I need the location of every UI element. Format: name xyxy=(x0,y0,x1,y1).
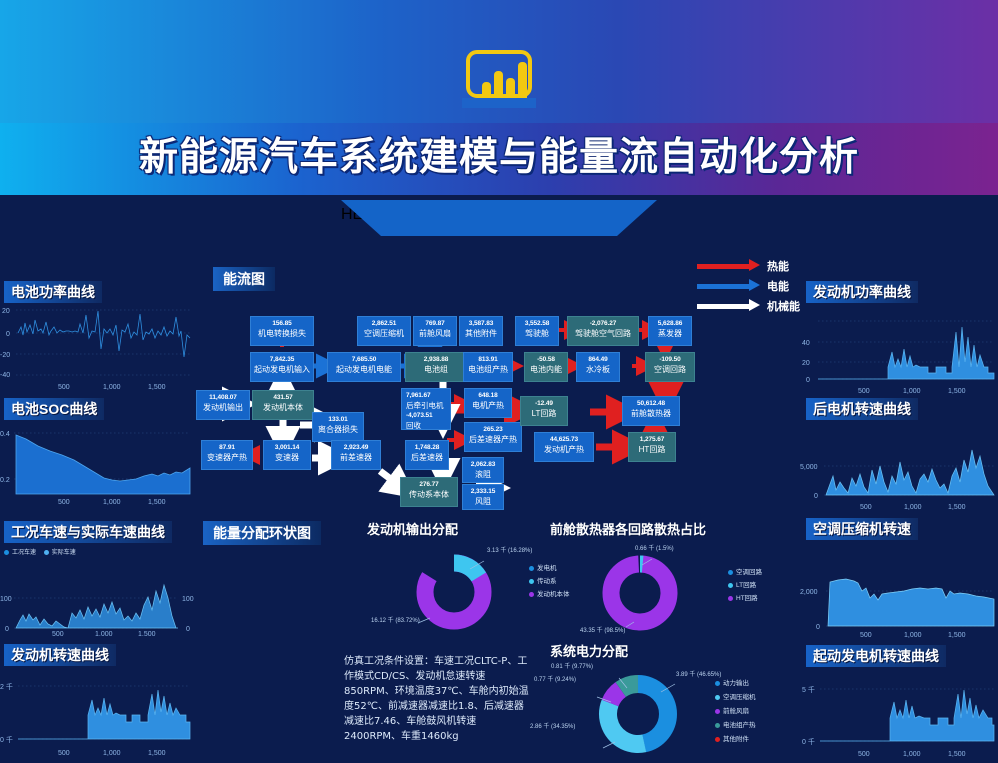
flow-node-n07[interactable]: 3,587.83 其他附件 xyxy=(459,316,503,346)
legend-item: 其他附件 xyxy=(715,733,756,747)
legend-item: 空调压缩机 xyxy=(715,691,756,705)
chart-engine-speed: 2 千 0 千 500 1,000 1,500 xyxy=(0,672,195,760)
page-title: 新能源汽车系统建模与能量流自动化分析 xyxy=(0,127,998,189)
panel-title-speed-curve: 工况车速与实际车速曲线 xyxy=(4,521,172,543)
ytick: 5 千 xyxy=(802,685,815,694)
legend-item: 电池组产热 xyxy=(715,719,756,733)
donut-title-engine-output: 发动机输出分配 xyxy=(360,519,465,541)
donut-title-radiator: 前舱散热器各回路散热占比 xyxy=(543,519,713,541)
chart-engine-power: 40 20 0 500 1,000 1,500 xyxy=(800,307,998,395)
xtick: 1,000 xyxy=(103,750,121,757)
donut-radiator xyxy=(590,553,690,633)
donut2-legend: 空调回路 LT回路 HT回路 xyxy=(728,566,762,605)
chart-starter-generator-speed: 5 千 0 千 500 1,000 1,500 xyxy=(800,672,998,760)
donut3-legend: 动力输出 空调压缩机 前舱风扇 电池组产热 其他附件 xyxy=(715,677,756,747)
chart-battery-power: 20 0 -20 -40 500 1,000 1,500 xyxy=(0,305,195,395)
panel-title-engine-speed: 发动机转速曲线 xyxy=(4,644,116,666)
ytick: 0 千 xyxy=(0,735,13,744)
donut3-label-1: 2.86 千 (34.35%) xyxy=(530,721,575,730)
flow-node-n14[interactable]: 5,628.86 蒸发器 xyxy=(648,316,692,346)
ytick-right: 0 xyxy=(186,626,190,633)
xtick: 1,500 xyxy=(948,751,966,758)
donut-engine-output xyxy=(404,553,504,631)
ytick: 0 xyxy=(814,493,818,500)
flow-node-n29[interactable]: 50,612.48 前舱散热器 xyxy=(622,396,680,426)
flow-node-n12[interactable]: 3,552.58 驾驶舱 xyxy=(515,316,559,346)
xtick: 500 xyxy=(860,504,872,511)
ytick: 20 xyxy=(802,360,810,367)
flow-node-n09[interactable]: -50.58 电池内能 xyxy=(524,352,568,382)
legend-item: 传动系 xyxy=(529,575,570,588)
ytick: 2 千 xyxy=(0,682,13,691)
flow-node-n06[interactable]: 769.87 前舱风扇 xyxy=(413,316,457,346)
xtick: 1,500 xyxy=(948,504,966,511)
xtick: 500 xyxy=(58,750,70,757)
xtick: 1,000 xyxy=(904,632,922,638)
chart-battery-soc: 0.4 0.2 500 1,000 1,500 xyxy=(0,422,195,510)
flow-node-n31[interactable]: 1,275.67 HT回路 xyxy=(628,432,676,462)
flow-node-n19[interactable]: 3,001.14 变速器 xyxy=(263,440,311,470)
ytick: -20 xyxy=(0,352,10,359)
donut-power-distribution xyxy=(583,670,693,760)
donut-section-chip: 能量分配环状图 xyxy=(203,521,321,545)
xtick: 1,000 xyxy=(103,384,121,391)
flow-node-n08[interactable]: 813.91 电池组产热 xyxy=(463,352,513,382)
ytick: 2,000 xyxy=(800,589,818,596)
ytick: 5,000 xyxy=(800,464,818,471)
ytick: 20 xyxy=(2,308,10,315)
legend-label: 电能 xyxy=(767,278,789,296)
xtick: 500 xyxy=(860,632,872,638)
panel-title-rear-motor-speed: 后电机转速曲线 xyxy=(806,398,918,420)
ytick: 0 千 xyxy=(802,737,815,746)
ytick: 0 xyxy=(6,331,10,338)
flow-node-n21[interactable]: 7,961.67 后牵引电机 -4,073.51 回收 xyxy=(401,388,451,430)
xtick: 500 xyxy=(858,751,870,758)
panel-title-engine-power: 发动机功率曲线 xyxy=(806,281,918,303)
donut1-legend: 发电机 传动系 发动机本体 xyxy=(529,562,570,601)
flow-node-n11[interactable]: -109.50 空调回路 xyxy=(645,352,695,382)
legend-row-thermal: 热能 xyxy=(697,258,817,278)
ytick: 0 xyxy=(806,377,810,384)
flow-node-n24[interactable]: 265.23 后差速器产热 xyxy=(464,422,522,452)
flow-node-n02[interactable]: 7,842.35 起动发电机输入 xyxy=(250,352,314,382)
panel-title-battery-soc: 电池SOC曲线 xyxy=(4,398,104,420)
flow-node-n30[interactable]: 44,625.73 发动机产热 xyxy=(534,432,594,462)
flow-node-n17[interactable]: 133.01 离合器损失 xyxy=(312,412,364,442)
legend-label: 热能 xyxy=(767,258,789,276)
ytick-right: 100 xyxy=(182,596,194,603)
legend-item: 空调回路 xyxy=(728,566,762,579)
legend-item: 前舱风扇 xyxy=(715,705,756,719)
section-ribbon: HEV能量分析 xyxy=(341,200,657,236)
xtick: 1,500 xyxy=(148,499,166,506)
chart-rear-motor-speed: 5,000 0 500 1,000 1,500 xyxy=(800,424,998,512)
ytick: 0.4 xyxy=(0,431,10,438)
flow-node-n28[interactable]: -12.49 LT回路 xyxy=(520,396,568,426)
flow-node-n26[interactable]: 2,062.83 滚阻 xyxy=(462,457,504,483)
legend-item: 工况车速 xyxy=(4,550,36,556)
flow-node-n01[interactable]: 156.85 机电转换损失 xyxy=(250,316,314,346)
legend-item: 动力输出 xyxy=(715,677,756,691)
legend-item: LT回路 xyxy=(728,579,762,592)
panel-title-battery-power: 电池功率曲线 xyxy=(4,281,102,303)
flow-node-n05[interactable]: 2,862.51 空调压缩机 xyxy=(357,316,411,346)
xtick: 1,500 xyxy=(948,388,966,395)
xtick: 1,500 xyxy=(948,632,966,638)
flow-node-n20[interactable]: 2,923.49 前差速器 xyxy=(331,440,381,470)
donut3-label-3: 0.81 千 (9.77%) xyxy=(551,661,593,670)
flow-node-n18[interactable]: 87.91 变速器产热 xyxy=(201,440,253,470)
xtick: 1,000 xyxy=(95,631,113,636)
legend-item: 发电机 xyxy=(529,562,570,575)
flow-node-n15[interactable]: 11,408.07 发动机输出 xyxy=(196,390,250,420)
chart-vehicle-speed: 100 0 100 0 500 1,000 1,500 xyxy=(0,558,195,636)
legend-row-mechanical: 机械能 xyxy=(697,298,817,318)
flow-node-n22[interactable]: 648.18 电机产热 xyxy=(464,388,512,418)
legend-row-electric: 电能 xyxy=(697,278,817,298)
ytick: 0 xyxy=(5,626,9,633)
xtick: 500 xyxy=(52,631,64,636)
legend-label: 机械能 xyxy=(767,298,800,316)
legend-item: 实际车速 xyxy=(44,550,76,556)
flow-node-n27[interactable]: 2,333.15 风阻 xyxy=(462,484,504,510)
flow-node-n23[interactable]: 1,748.28 后差速器 xyxy=(405,440,449,470)
ytick: 40 xyxy=(802,340,810,347)
donut-title-power-distribution: 系统电力分配 xyxy=(543,641,635,663)
ytick: 100 xyxy=(0,596,12,603)
xtick: 1,000 xyxy=(103,499,121,506)
flow-node-n03[interactable]: 7,685.50 起动发电机电能 xyxy=(327,352,401,382)
xtick: 1,000 xyxy=(903,751,921,758)
ytick: 0 xyxy=(816,624,820,631)
power-bi-logo-icon xyxy=(462,48,536,108)
dashboard-root: 新能源汽车系统建模与能量流自动化分析 HEV能量分析 能流图 能量分配环状图 电… xyxy=(0,0,998,763)
panel-title-starter-generator-speed: 起动发电机转速曲线 xyxy=(806,645,946,667)
chart-ac-compressor-speed: 2,000 0 500 1,000 1,500 xyxy=(800,546,998,638)
ytick: 0.2 xyxy=(0,477,10,484)
xtick: 500 xyxy=(858,388,870,395)
flow-node-n10[interactable]: 864.49 水冷板 xyxy=(576,352,620,382)
xtick: 500 xyxy=(58,499,70,506)
panel-title-ac-compressor-speed: 空调压缩机转速 xyxy=(806,518,918,540)
xtick: 500 xyxy=(58,384,70,391)
flow-node-n16[interactable]: 431.57 发动机本体 xyxy=(252,390,314,420)
flow-node-n25[interactable]: 276.77 传动系本体 xyxy=(400,477,458,507)
legend-item: HT回路 xyxy=(728,592,762,605)
simulation-conditions-text: 仿真工况条件设置：车速工况CLTC-P、工作模式CD/CS、发动机怠速转速850… xyxy=(344,654,530,744)
xtick: 1,500 xyxy=(148,384,166,391)
donut2-label-0: 0.66 千 (1.5%) xyxy=(635,543,674,552)
xtick: 1,000 xyxy=(903,388,921,395)
legend-item: 发动机本体 xyxy=(529,588,570,601)
flow-legend: 热能 电能 机械能 xyxy=(697,258,817,318)
flow-node-n04[interactable]: 2,938.88 电池组 xyxy=(405,352,467,382)
xtick: 1,500 xyxy=(148,750,166,757)
flow-node-n13[interactable]: -2,076.27 驾驶舱空气回路 xyxy=(567,316,639,346)
xtick: 1,500 xyxy=(138,631,156,636)
xtick: 1,000 xyxy=(904,504,922,511)
flow-section-chip: 能流图 xyxy=(213,267,275,291)
ytick: -40 xyxy=(0,372,10,379)
donut3-label-2: 0.77 千 (9.24%) xyxy=(534,674,576,683)
